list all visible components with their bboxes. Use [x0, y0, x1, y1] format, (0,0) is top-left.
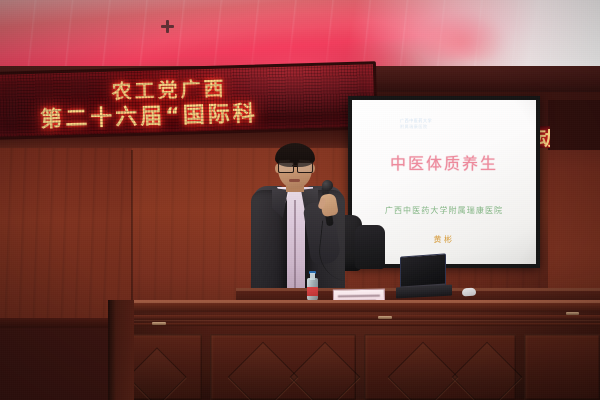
podium-drawer-pull-1: [152, 322, 166, 325]
presentation-laptop: [396, 255, 452, 301]
bottle-label: [307, 287, 318, 296]
podium-left-shadow: [108, 300, 116, 400]
mouth: [289, 179, 300, 182]
water-bottle: [307, 271, 318, 301]
podium-lip: [108, 323, 600, 326]
wall-panel-seam: [131, 150, 133, 325]
chair-backrest-secondary: [355, 225, 385, 269]
podium-top-highlight: [108, 300, 600, 303]
glasses-lens-right: [297, 162, 313, 173]
shirt-placket: [294, 200, 296, 292]
laptop-base: [396, 285, 452, 299]
podium-panel-4: [524, 334, 600, 400]
podium-drawer-pull-2: [378, 316, 392, 319]
led-banner-panel: 农工党广西 第二十六届“国际科: [0, 61, 378, 140]
computer-mouse: [462, 288, 477, 297]
glasses-lens-left: [278, 162, 294, 173]
podium-drawer-pull-3: [566, 312, 579, 315]
lecture-hall-photo: 农工党广西 第二十六届“国际科 动 广西中医药大学 附属瑞康医院 中医体质养生 …: [0, 0, 600, 400]
sprinkler-head-icon: [161, 20, 174, 33]
glasses-icon: [277, 162, 313, 172]
ceiling-red-glow-secondary: [420, 0, 560, 60]
placard-text-line-1: [338, 295, 380, 298]
podium-molding: [108, 315, 600, 320]
wall-right-upper-dark: [548, 100, 600, 150]
led-pixel-grid: [0, 64, 375, 137]
